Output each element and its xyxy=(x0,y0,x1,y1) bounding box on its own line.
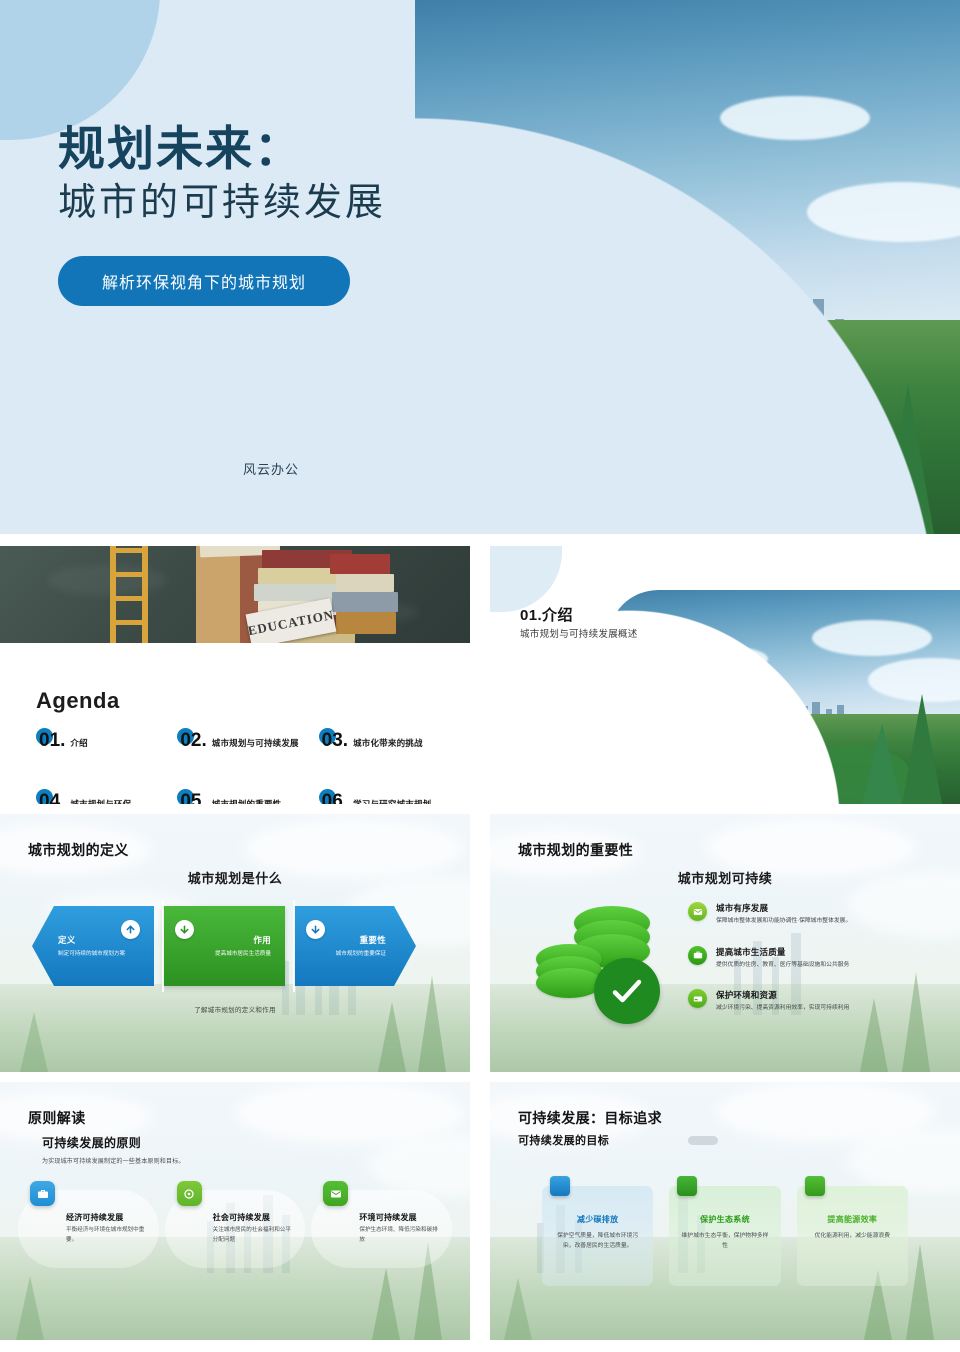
forest-meadow-layer xyxy=(415,320,960,534)
slide-importance[interactable]: 城市规划的重要性 城市规划可持续 城市有序发展 保障城市整体发展和功能协调性·保… xyxy=(490,814,960,1072)
coin-stack-graphic xyxy=(532,906,682,1026)
agenda-item-number: 06. xyxy=(319,792,348,804)
pine-tree-icon xyxy=(902,694,942,804)
page-title-line1: 规划未来： xyxy=(58,122,386,177)
ladder-icon xyxy=(110,546,148,643)
pine-tree-icon xyxy=(862,724,902,804)
agenda-item-label: 学习与研究城市规划 xyxy=(353,798,431,804)
goal-title: 保护生态系统 xyxy=(681,1214,768,1225)
principle-card-environment[interactable]: 环境可持续发展 保护生态环境、降低污染和碳排放 xyxy=(311,1190,452,1268)
goal-title: 减少碳排放 xyxy=(554,1214,641,1225)
slide-heading: 城市规划的定义 xyxy=(28,840,129,860)
cloud-icon xyxy=(437,246,527,270)
list-item-title: 保护环境和资源 xyxy=(716,989,849,1001)
goal-card-carbon[interactable]: 减少碳排放 保护空气质量，降低城市环境污染，改善居民的生活质量。 xyxy=(542,1186,653,1286)
agenda-item[interactable]: 04. 城市规划与环保 xyxy=(36,792,169,804)
agenda-item[interactable]: 05. 城市规划的重要性 xyxy=(177,792,310,804)
chevron-step-role[interactable]: 作用 提高城市居民生活质量 xyxy=(163,906,285,986)
agenda-item-label: 介绍 xyxy=(70,737,87,749)
agenda-grid: 01. 介绍 02. 城市规划与可持续发展 03. 城市化带来的挑战 04. 城… xyxy=(36,731,452,804)
section-number-title: 01.介绍 xyxy=(520,604,573,625)
list-item[interactable]: 提高城市生活质量 提供优质的住房、教育、医疗等基础设施和公共服务 xyxy=(688,946,938,971)
square-chip-icon xyxy=(677,1176,697,1196)
principle-desc: 关注城市居民的社会福利和公平分配问题 xyxy=(213,1226,294,1245)
principle-desc: 保护生态环境、降低污染和碳排放 xyxy=(359,1226,440,1245)
pine-tree-icon xyxy=(882,384,934,534)
chevron-step-importance[interactable]: 重要性 城市规划的重要保证 xyxy=(294,906,416,986)
agenda-item-number: 02. xyxy=(177,731,206,750)
mail-icon xyxy=(323,1181,348,1206)
list-item-desc: 减少环境污染、提高资源利用效率，实现可持续利用 xyxy=(716,1004,849,1014)
importance-list: 城市有序发展 保障城市整体发展和功能协调性·保障城市整体发展。 提高城市生活质量… xyxy=(688,902,938,1033)
list-item-title: 城市有序发展 xyxy=(716,902,851,914)
agenda-title: Agenda xyxy=(36,688,120,714)
goal-title: 提高能源效率 xyxy=(809,1214,896,1225)
slide-heading: 城市规划的重要性 xyxy=(518,840,633,860)
agenda-item-label: 城市化带来的挑战 xyxy=(353,737,423,749)
list-item-title: 提高城市生活质量 xyxy=(716,946,849,958)
briefcase-icon xyxy=(688,946,707,965)
list-item-desc: 保障城市整体发展和功能协调性·保障城市整体发展。 xyxy=(716,917,851,927)
hero-image-city-nature xyxy=(415,0,960,534)
cloud-icon xyxy=(513,160,633,196)
slide-subtitle: 城市规划是什么 xyxy=(0,868,470,887)
agenda-item-number: 04. xyxy=(36,792,65,804)
chevron-desc: 城市规划的重要保证 xyxy=(308,950,402,958)
slide-title[interactable]: 规划未来： 城市的可持续发展 解析环保视角下的城市规划 风云办公 xyxy=(0,0,960,534)
chevron-desc: 提高城市居民生活质量 xyxy=(177,950,271,958)
principles-note: 为实现城市可持续发展制定的一些基本原则和目标。 xyxy=(42,1156,185,1165)
slide-agenda[interactable]: EDUCATION Agenda 01. 介绍 02. 城市规划与可持续发展 0… xyxy=(0,546,470,804)
goal-desc: 保护空气质量，降低城市环境污染，改善居民的生活质量。 xyxy=(554,1231,641,1251)
list-item-desc: 提供优质的住房、教育、医疗等基础设施和公共服务 xyxy=(716,961,849,971)
arrow-down-circle-icon xyxy=(175,920,194,939)
principles-card-row: 经济可持续发展 平衡经济与环境在城市规划中重要。 社会可持续发展 关注城市居民的… xyxy=(18,1190,452,1268)
agenda-item[interactable]: 03. 城市化带来的挑战 xyxy=(319,731,452,750)
title-block: 规划未来： 城市的可持续发展 解析环保视角下的城市规划 xyxy=(58,122,386,306)
principles-subtitle: 可持续发展的原则 xyxy=(42,1134,141,1151)
agenda-body: Agenda 01. 介绍 02. 城市规划与可持续发展 03. 城市化带来的挑… xyxy=(0,643,470,804)
presentation-deck: 规划未来： 城市的可持续发展 解析环保视角下的城市规划 风云办公 xyxy=(0,0,960,1352)
slide-principles[interactable]: 原则解读 可持续发展的原则 为实现城市可持续发展制定的一些基本原则和目标。 经济… xyxy=(0,1082,470,1340)
check-mark-icon xyxy=(594,958,660,1024)
agenda-item-label: 城市规划与可持续发展 xyxy=(212,737,299,749)
slide-goals[interactable]: 可持续发展：目标追求 可持续发展的目标 减少碳排放 保护空气质量，降低城市环境污… xyxy=(490,1082,960,1340)
cloud-icon xyxy=(720,96,870,140)
mail-icon xyxy=(688,902,707,921)
goals-subtitle: 可持续发展的目标 xyxy=(518,1132,609,1148)
square-chip-icon xyxy=(805,1176,825,1196)
principle-title: 经济可持续发展 xyxy=(66,1212,147,1223)
decorative-corner-blob xyxy=(0,0,160,140)
square-chip-icon xyxy=(550,1176,570,1196)
principle-card-social[interactable]: 社会可持续发展 关注城市居民的社会福利和公平分配问题 xyxy=(165,1190,306,1268)
subtitle-badge[interactable]: 解析环保视角下的城市规划 xyxy=(58,256,350,306)
card-icon xyxy=(688,989,707,1008)
process-chevron-row: 定义 制定可持续的城市规划方案 作用 提高城市居民生活质量 重要性 城市规划的重… xyxy=(32,906,416,986)
goal-desc: 维护城市生态平衡，保护物种多样性 xyxy=(681,1231,768,1251)
chevron-step-definition[interactable]: 定义 制定可持续的城市规划方案 xyxy=(32,906,154,986)
chevron-desc: 制定可持续的城市规划方案 xyxy=(46,950,140,958)
definition-caption: 了解城市规划的定义和作用 xyxy=(0,1004,470,1014)
decorative-corner-blob xyxy=(490,546,562,612)
target-icon xyxy=(177,1181,202,1206)
agenda-item-number: 03. xyxy=(319,731,348,750)
slide-heading: 原则解读 xyxy=(28,1108,86,1128)
agenda-item-number: 01. xyxy=(36,731,65,750)
slide-definition[interactable]: 城市规划的定义 城市规划是什么 定义 制定可持续的城市规划方案 作用 提高城市居… xyxy=(0,814,470,1072)
principle-title: 社会可持续发展 xyxy=(213,1212,294,1223)
slide-section-intro[interactable]: 01.介绍 城市规划与可持续发展概述 xyxy=(490,546,960,804)
principle-title: 环境可持续发展 xyxy=(359,1212,440,1223)
agenda-item[interactable]: 01. 介绍 xyxy=(36,731,169,750)
agenda-header-photo: EDUCATION xyxy=(0,546,470,643)
goal-card-ecosystem[interactable]: 保护生态系统 维护城市生态平衡，保护物种多样性 xyxy=(669,1186,780,1286)
agenda-item-label: 城市规划的重要性 xyxy=(212,798,282,804)
pine-tree-icon xyxy=(844,424,884,534)
goal-desc: 优化能源利用，减少能源浪费 xyxy=(809,1231,896,1241)
agenda-item-number: 05. xyxy=(177,792,206,804)
agenda-item[interactable]: 06. 学习与研究城市规划 xyxy=(319,792,452,804)
slide-heading: 可持续发展：目标追求 xyxy=(518,1108,662,1128)
cloud-icon xyxy=(579,224,739,252)
list-item[interactable]: 城市有序发展 保障城市整体发展和功能协调性·保障城市整体发展。 xyxy=(688,902,938,927)
principle-card-economic[interactable]: 经济可持续发展 平衡经济与环境在城市规划中重要。 xyxy=(18,1190,159,1268)
goals-card-row: 减少碳排放 保护空气质量，降低城市环境污染，改善居民的生活质量。 保护生态系统 … xyxy=(542,1186,908,1286)
list-item[interactable]: 保护环境和资源 减少环境污染、提高资源利用效率，实现可持续利用 xyxy=(688,989,938,1014)
arrow-up-circle-icon xyxy=(121,920,140,939)
principle-desc: 平衡经济与环境在城市规划中重要。 xyxy=(66,1226,147,1245)
author-label: 风云办公 xyxy=(243,459,299,478)
section-image-city-nature xyxy=(608,590,960,804)
agenda-item[interactable]: 02. 城市规划与可持续发展 xyxy=(177,731,310,750)
slide-subtitle: 城市规划可持续 xyxy=(490,868,960,887)
page-title-line2: 城市的可持续发展 xyxy=(58,179,386,228)
goal-card-energy[interactable]: 提高能源效率 优化能源利用，减少能源浪费 xyxy=(797,1186,908,1286)
decorative-pill xyxy=(688,1136,718,1145)
agenda-item-label: 城市规划与环保 xyxy=(70,798,131,804)
arrow-down-circle-icon xyxy=(306,920,325,939)
briefcase-icon xyxy=(30,1181,55,1206)
